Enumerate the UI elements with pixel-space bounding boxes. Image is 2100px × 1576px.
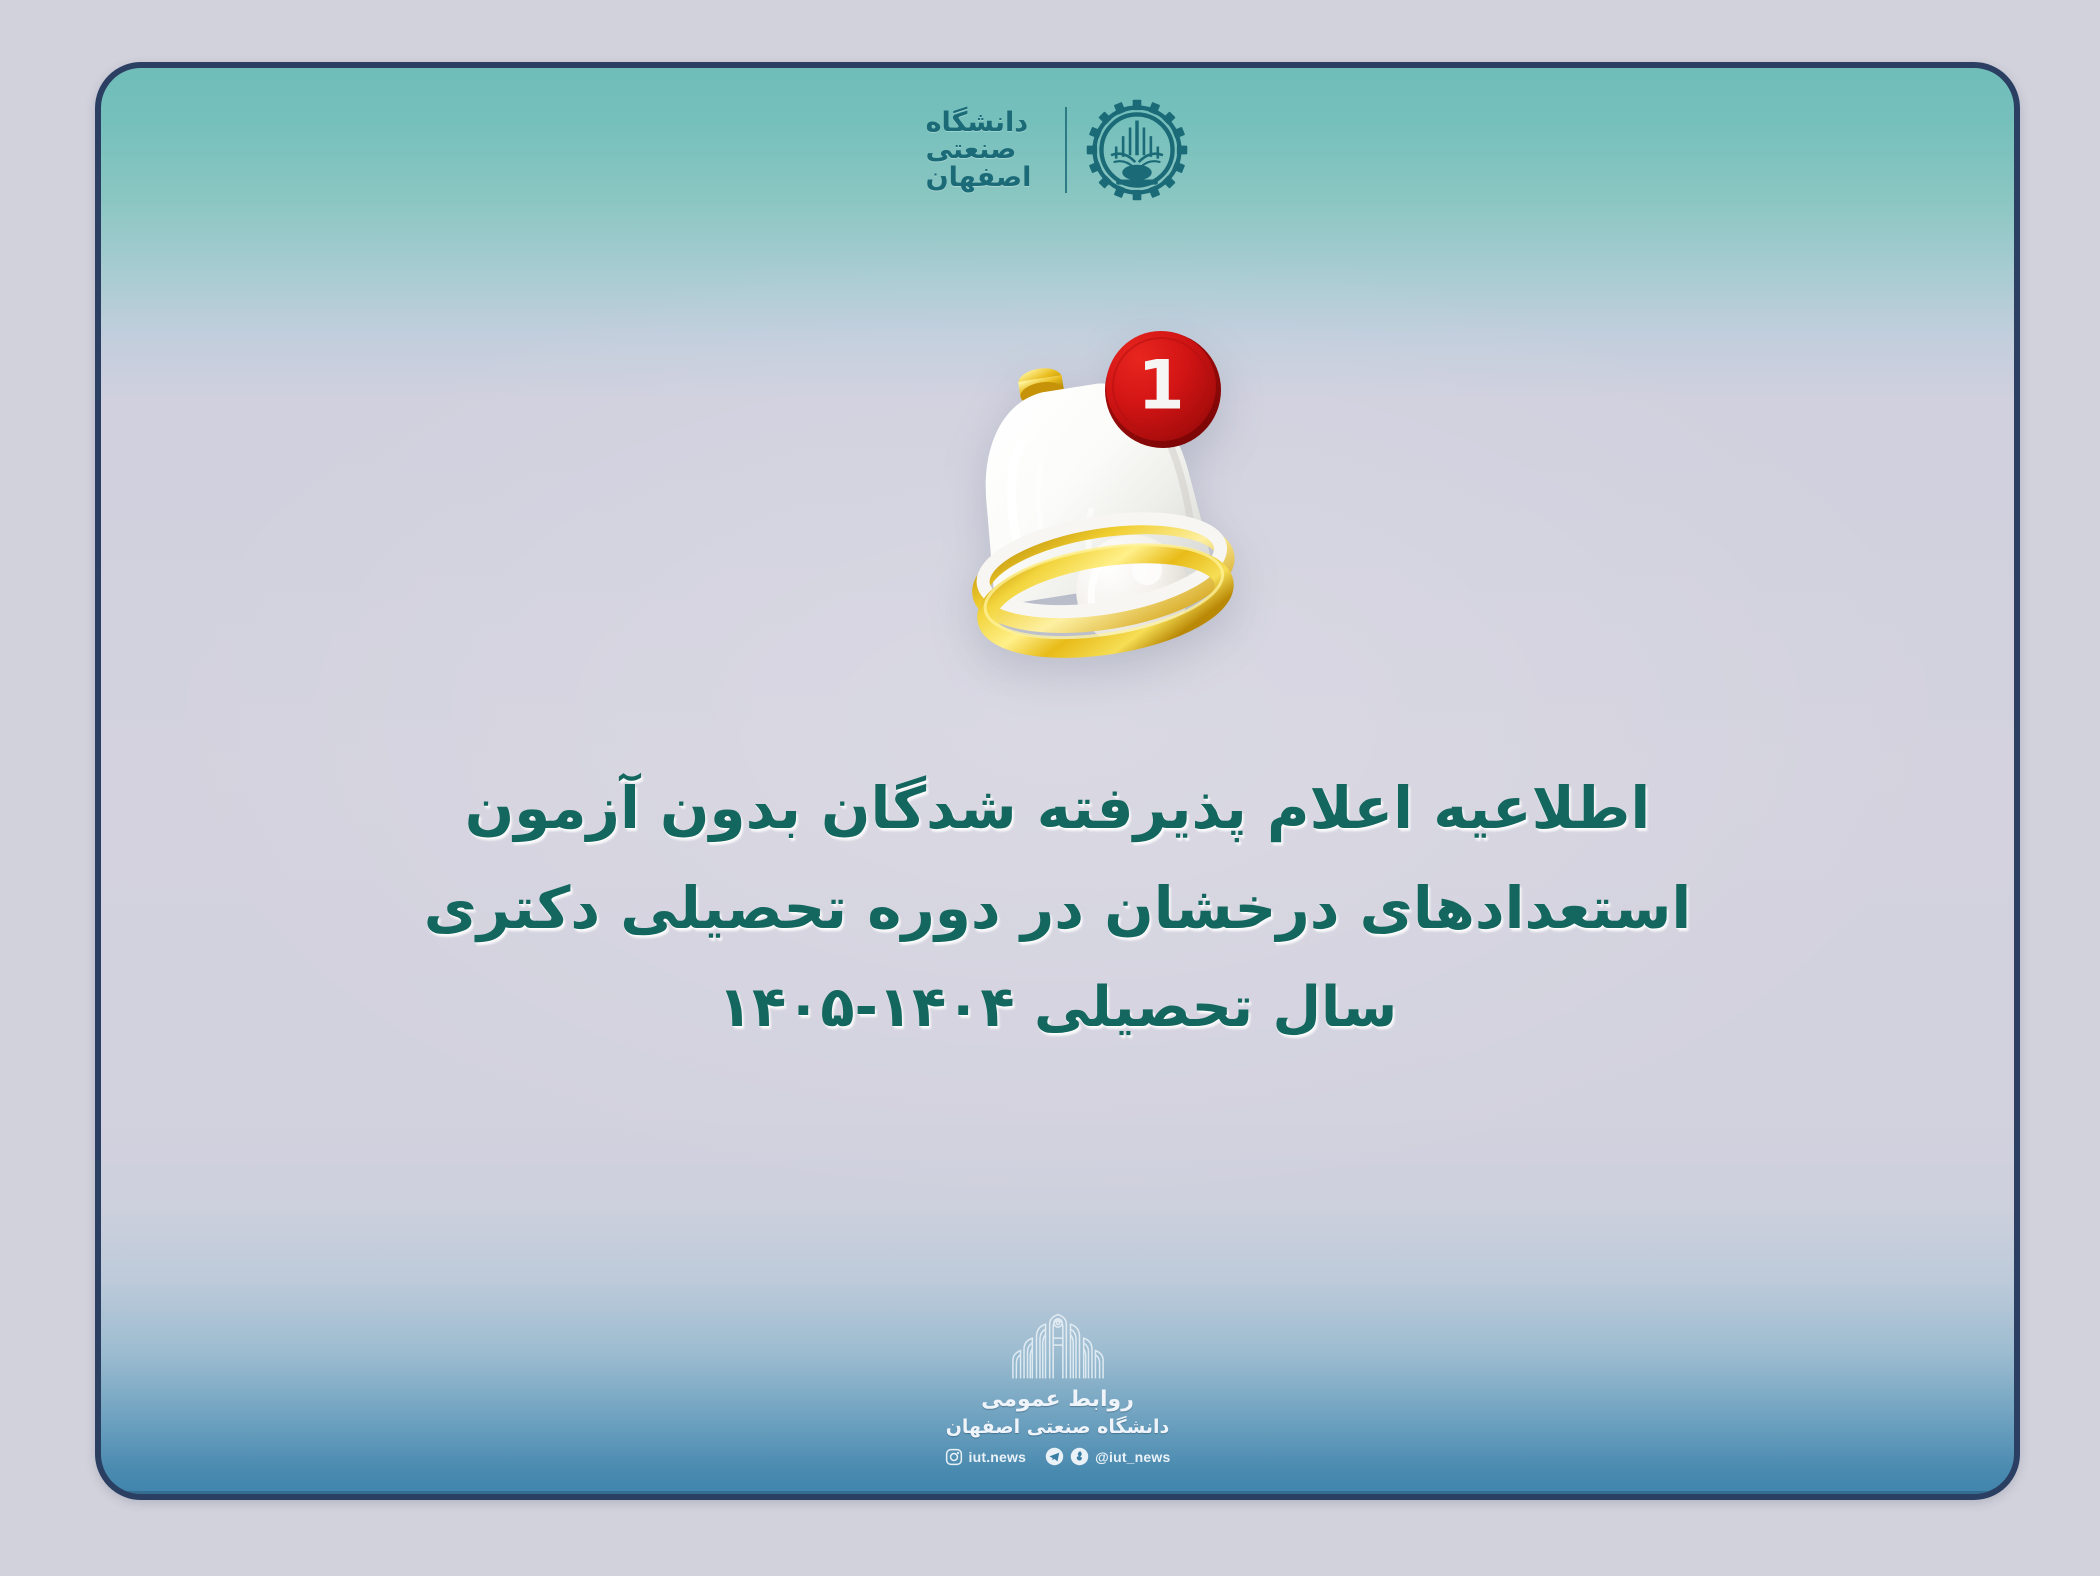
social-links-row: iut.news @iut_news — [945, 1447, 1171, 1466]
card-bottom-edge — [101, 1491, 2014, 1494]
university-name-line-3: اصفهان — [926, 164, 1032, 192]
aparat-icon[interactable] — [1070, 1447, 1089, 1466]
university-name-line-1: دانشگاه — [926, 109, 1029, 137]
instagram-handle[interactable]: iut.news — [969, 1449, 1027, 1465]
poster-card: دانشگاه صنعتی اصفهان — [95, 62, 2020, 1500]
university-wordmark: دانشگاه صنعتی اصفهان — [926, 109, 1048, 192]
iut-gear-emblem-icon — [1085, 98, 1189, 202]
poster-root: دانشگاه صنعتی اصفهان — [0, 0, 2100, 1576]
notification-badge-shape: 1 — [1105, 331, 1221, 448]
footer-title: روابط عمومی — [981, 1387, 1134, 1412]
public-relations-footer: روابط عمومی دانشگاه صنعتی اصفهان iut.new… — [101, 1306, 2014, 1466]
headline-line-1: اطلاعیه اعلام پذیرفته شدگان بدون آزمون — [281, 758, 1834, 858]
headline-line-3: سال تحصیلی ۱۴۰۴-۱۴۰۵ — [281, 958, 1834, 1058]
brand-header: دانشگاه صنعتی اصفهان — [101, 90, 2014, 210]
aparat-handle[interactable]: @iut_news — [1095, 1449, 1170, 1465]
headline-line-2: استعدادهای درخشان در دوره تحصیلی دکتری — [281, 858, 1834, 958]
university-name-line-2: صنعتی — [926, 136, 1017, 164]
telegram-icon[interactable] — [1045, 1447, 1064, 1466]
brand-divider — [1065, 107, 1067, 193]
instagram-icon[interactable] — [945, 1448, 963, 1466]
page-title: اطلاعیه اعلام پذیرفته شدگان بدون آزمون ا… — [281, 758, 1834, 1058]
notification-bell-3d: 1 — [939, 326, 1269, 666]
iut-building-outline-icon — [1006, 1306, 1110, 1380]
footer-subtitle: دانشگاه صنعتی اصفهان — [946, 1416, 1170, 1438]
notification-badge-count: 1 — [1137, 347, 1184, 426]
